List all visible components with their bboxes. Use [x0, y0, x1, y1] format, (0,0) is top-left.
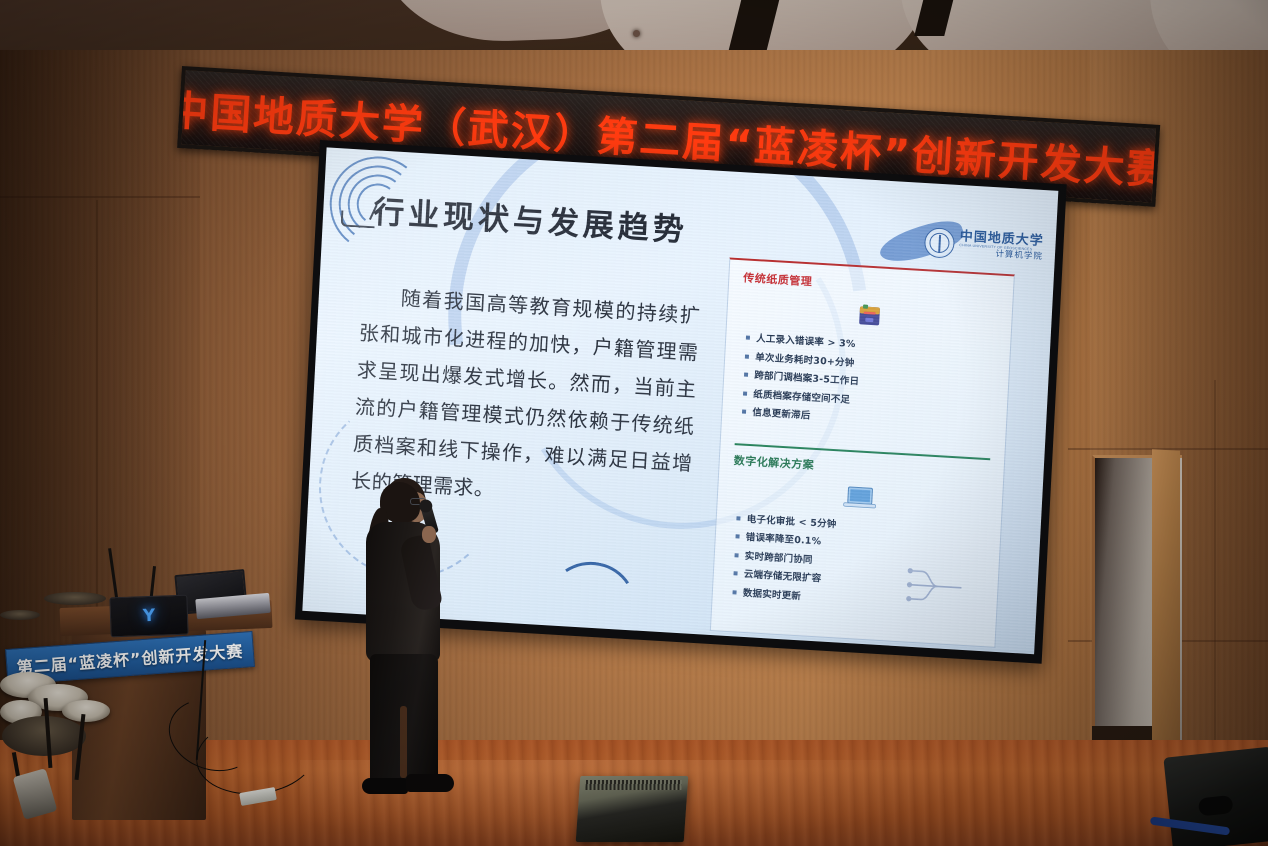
- speaker-grill: [585, 780, 682, 790]
- folder-icon: [741, 295, 998, 336]
- card-section-traditional: 传统纸质管理 人工录入错误率 > 3% 单次业务耗时30+分钟: [722, 260, 1014, 438]
- presenter: [344, 478, 464, 816]
- presenter-shoe: [362, 778, 408, 794]
- laptop[interactable]: Y: [109, 595, 188, 638]
- comparison-card: 传统纸质管理 人工录入错误率 > 3% 单次业务耗时30+分钟: [710, 257, 1015, 647]
- cymbal[interactable]: [0, 610, 40, 620]
- traditional-bullet-list: 人工录入错误率 > 3% 单次业务耗时30+分钟 跨部门调档案3-5工作日 纸质…: [736, 329, 996, 437]
- presentation-hall-photo: 中国地质大学（武汉）第二届“蓝凌杯”创新开发大赛: [0, 0, 1268, 846]
- drum-pad[interactable]: [62, 700, 110, 722]
- speaker-port: [1198, 795, 1234, 816]
- stage-monitor-speaker: [576, 776, 689, 842]
- university-seal-icon: [924, 227, 956, 259]
- university-logo: 中国地质大学 CHINA UNIVERSITY OF GEOSCIENCES 计…: [924, 227, 1044, 264]
- laptop-logo-icon: Y: [142, 606, 155, 626]
- presenter-leg-gap: [400, 706, 407, 778]
- presenter-hand: [422, 526, 436, 543]
- ceiling-spotlight-icon: [633, 30, 640, 37]
- digital-bullet-list: 电子化审批 < 5分钟 错误率降至0.1% 实时跨部门协同 云端存储无限扩容 数…: [726, 510, 986, 618]
- university-department: 计算机学院: [959, 248, 1043, 262]
- presenter-shoe: [406, 774, 454, 792]
- door-leaf[interactable]: [1152, 449, 1180, 755]
- cymbal[interactable]: [44, 592, 106, 605]
- card-section-digital: 数字化解决方案 电子化审批 < 5分钟 错误率降至0.1% 实时跨部门协同 云端…: [712, 431, 1004, 618]
- section-label: 传统纸质管理: [743, 269, 999, 300]
- cymbal[interactable]: [2, 716, 86, 756]
